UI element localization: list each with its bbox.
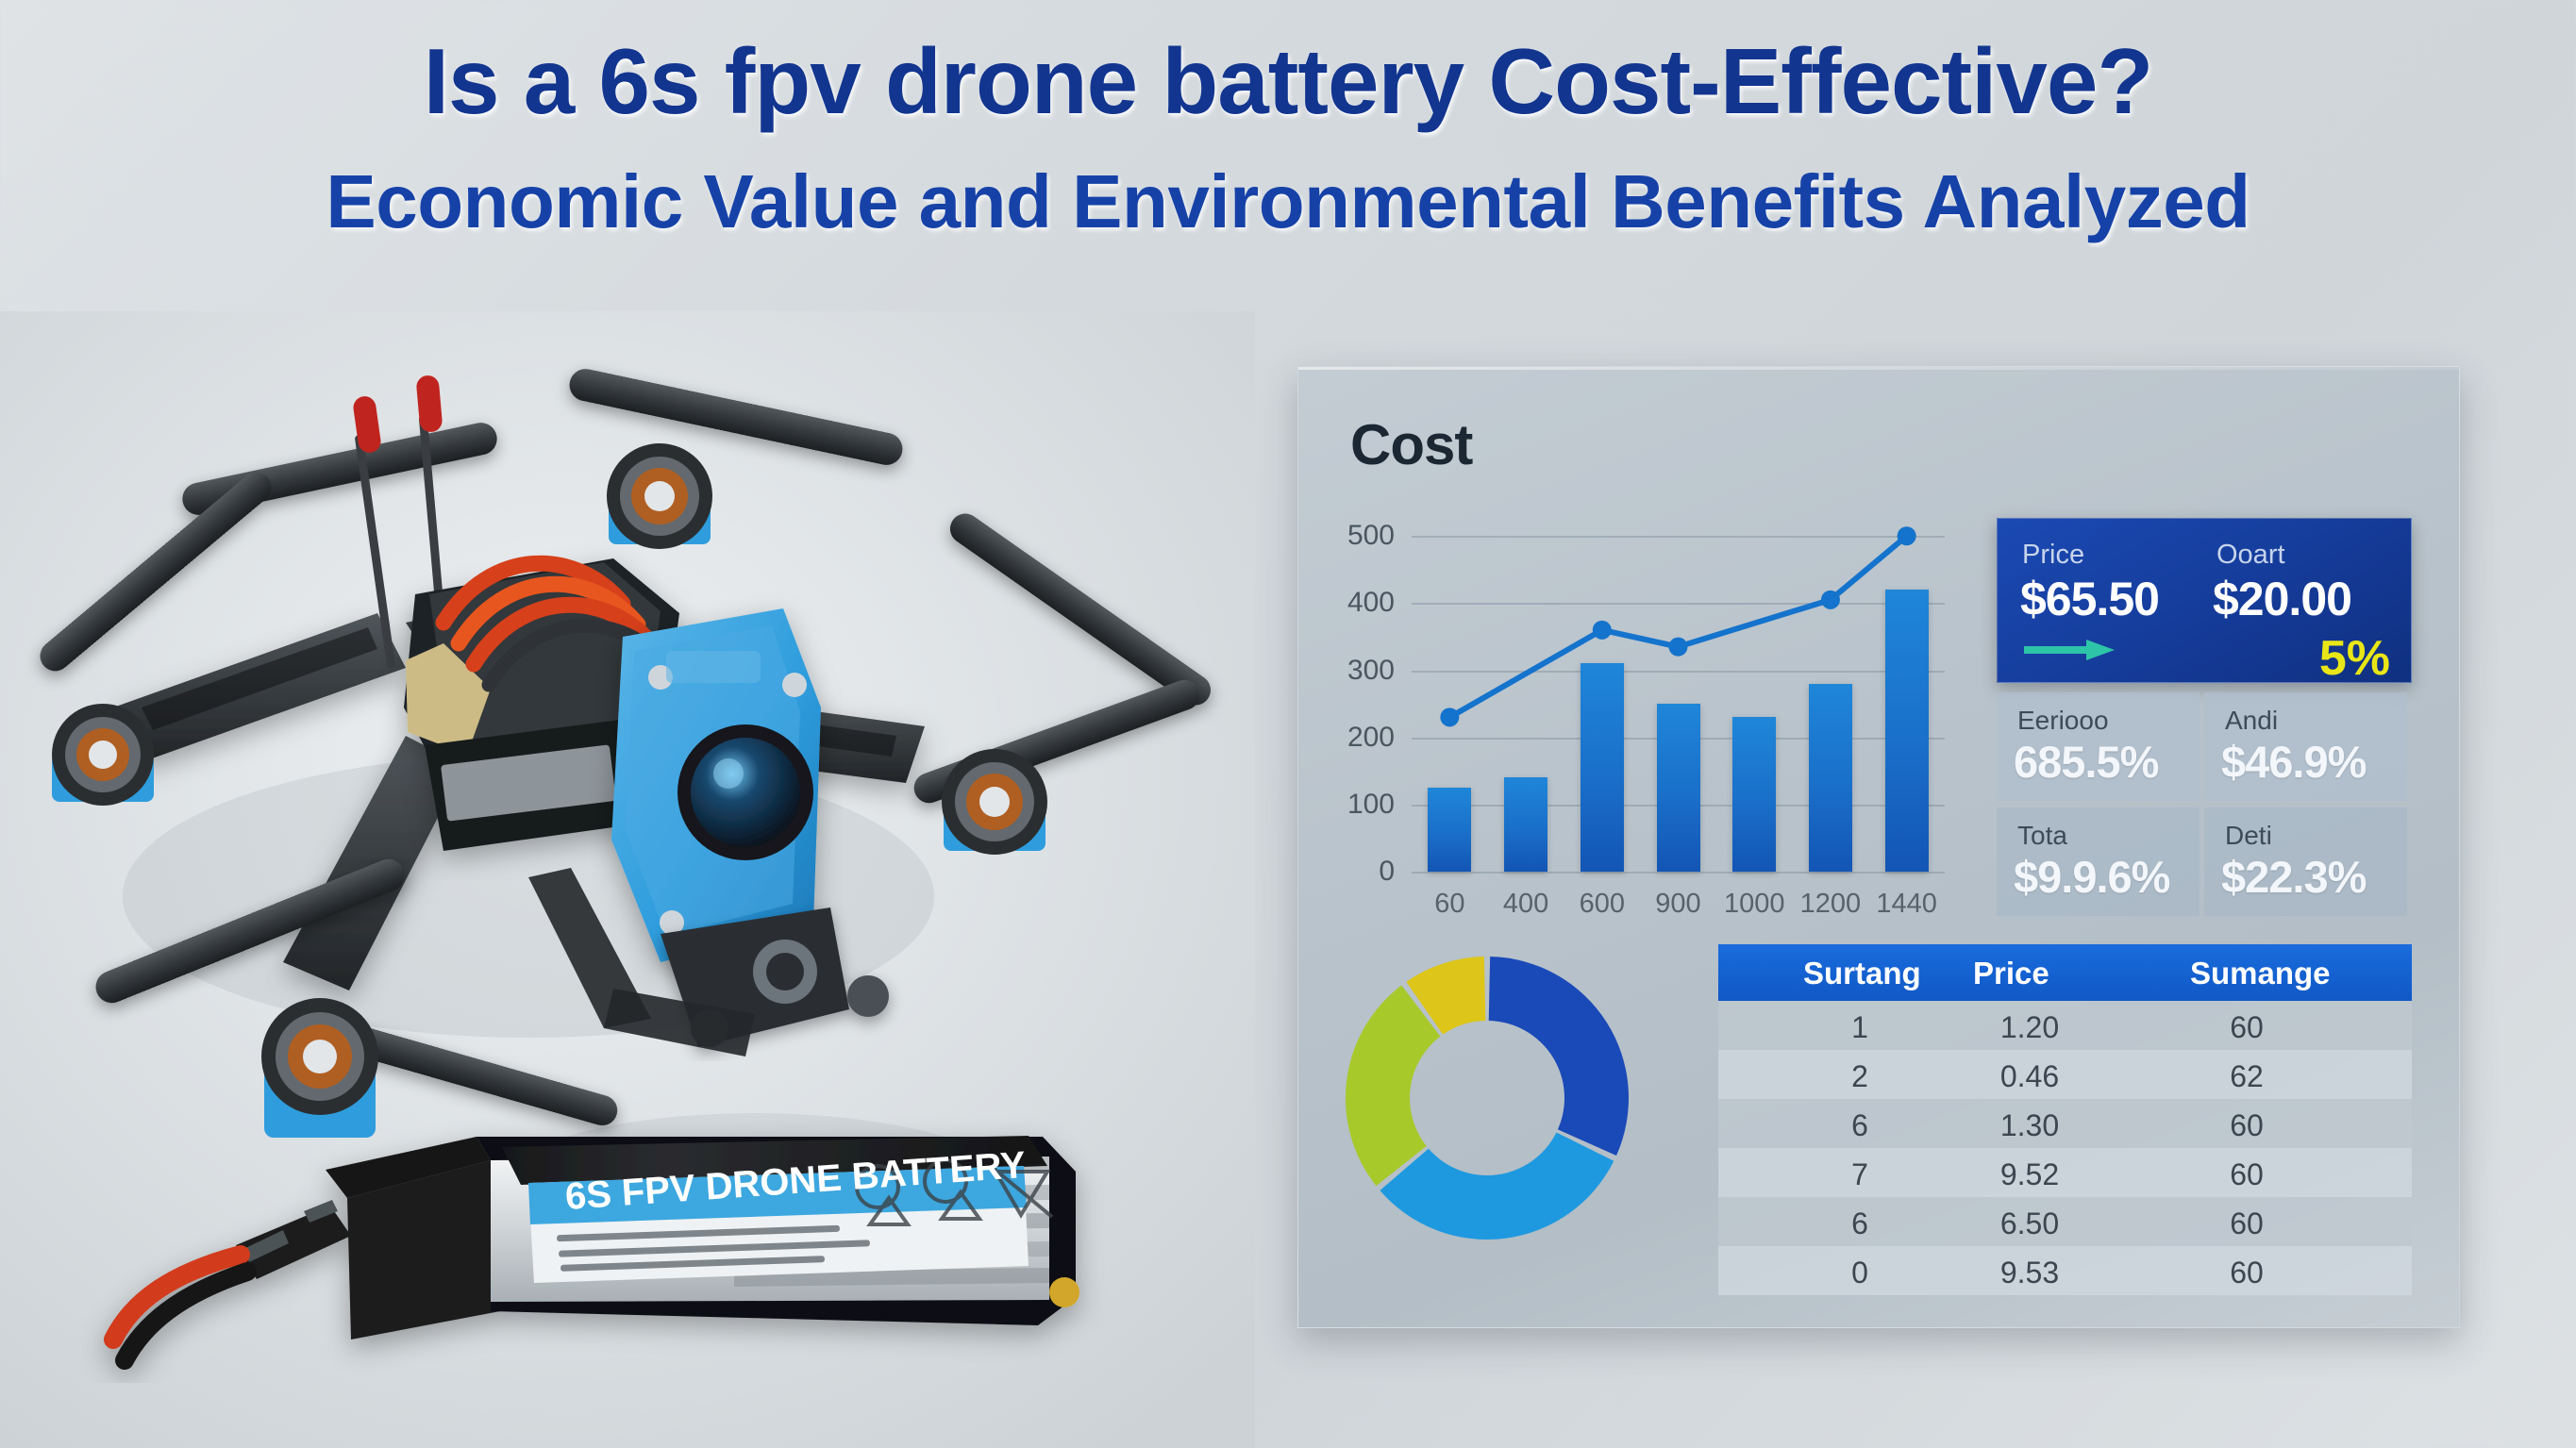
- table-row[interactable]: 61.3060: [1718, 1099, 2412, 1148]
- page-subtitle: Economic Value and Environmental Benefit…: [0, 158, 2576, 245]
- kpi-label-cost: Ooart: [2216, 540, 2285, 571]
- table-column-header[interactable]: Sumange: [2190, 956, 2331, 991]
- line-data-point: [1669, 638, 1688, 657]
- table-column-header[interactable]: Surtang: [1803, 956, 1921, 991]
- table-cell: 60: [2230, 1157, 2264, 1192]
- kpi-secondary-label: Tota: [2017, 821, 2067, 851]
- table-cell: 60: [2230, 1010, 2264, 1045]
- table-row[interactable]: 66.5060: [1718, 1197, 2412, 1246]
- table-cell: 1.30: [2000, 1108, 2059, 1143]
- motor-rear-right: [942, 749, 1047, 855]
- kpi-value-price: $65.50: [2020, 572, 2159, 626]
- kpi-secondary-cell[interactable]: Deti$22.3%: [2204, 807, 2407, 916]
- camera-housing: [611, 608, 821, 962]
- motor-front-left: [52, 704, 154, 806]
- x-tick-label: 1200: [1800, 889, 1862, 920]
- line-data-point: [1898, 526, 1916, 545]
- table-row[interactable]: 09.5360: [1718, 1246, 2412, 1295]
- table-row[interactable]: 79.5260: [1718, 1148, 2412, 1197]
- table-cell: 1: [1851, 1010, 1868, 1045]
- x-tick-label: 600: [1580, 889, 1625, 920]
- table-row[interactable]: 11.2060: [1718, 1001, 2412, 1050]
- table-cell: 6.50: [2000, 1207, 2059, 1241]
- arrow-right-icon: [2024, 640, 2115, 660]
- kpi-percent-change: 5%: [2319, 630, 2390, 687]
- table-cell: 0: [1851, 1256, 1868, 1290]
- x-tick-label: 1440: [1876, 889, 1937, 920]
- y-tick-label: 500: [1347, 520, 1395, 552]
- kpi-label-price: Price: [2022, 540, 2084, 571]
- data-table: SurtangPriceSumange 11.206020.466261.306…: [1718, 944, 2412, 1295]
- analytics-dashboard-panel: Cost 0100200300400500 604006009001000120…: [1297, 366, 2460, 1328]
- y-tick-label: 300: [1347, 655, 1395, 687]
- line-data-point: [1593, 621, 1612, 640]
- kpi-secondary-cell[interactable]: Eeriooo685.5%: [1997, 692, 2200, 801]
- table-cell: 60: [2230, 1207, 2264, 1241]
- motor-rear-left: [261, 998, 378, 1138]
- table-cell: 60: [2230, 1256, 2264, 1290]
- y-tick-label: 0: [1379, 856, 1395, 888]
- drone-illustration: 6S FPV DRONE BATTERY: [0, 311, 1255, 1448]
- table-cell: 60: [2230, 1108, 2264, 1143]
- table-cell: 9.53: [2000, 1256, 2059, 1290]
- kpi-primary-card[interactable]: Price $65.50 Ooart $20.00 5%: [1997, 518, 2412, 683]
- page-title: Is a 6s fpv drone battery Cost-Effective…: [0, 28, 2576, 135]
- kpi-secondary-label: Andi: [2225, 706, 2278, 736]
- kpi-secondary-value: 685.5%: [2014, 736, 2158, 788]
- cost-bar-line-chart: 0100200300400500 60400600900100012001440: [1412, 523, 1945, 872]
- table-cell: 2: [1851, 1059, 1868, 1094]
- gridline: [1412, 872, 1945, 874]
- table-cell: 62: [2230, 1059, 2264, 1094]
- drone-product-photo: 6S FPV DRONE BATTERY: [0, 311, 1255, 1448]
- y-tick-label: 400: [1347, 587, 1395, 619]
- kpi-secondary-cell[interactable]: Andi$46.9%: [2204, 692, 2407, 801]
- x-tick-label: 400: [1503, 889, 1548, 920]
- line-series: [1412, 523, 1945, 872]
- y-tick-label: 200: [1347, 722, 1395, 754]
- x-tick-label: 900: [1655, 889, 1700, 920]
- table-cell: 6: [1851, 1108, 1868, 1143]
- table-cell: 0.46: [2000, 1059, 2059, 1094]
- kpi-secondary-label: Deti: [2225, 821, 2272, 851]
- kpi-secondary-cell[interactable]: Tota$9.9.6%: [1997, 807, 2200, 916]
- line-data-point: [1821, 591, 1840, 609]
- table-column-header[interactable]: Price: [1973, 956, 2049, 991]
- table-cell: 1.20: [2000, 1010, 2059, 1045]
- kpi-secondary-value: $22.3%: [2221, 851, 2366, 903]
- donut-chart: [1341, 952, 1633, 1244]
- table-cell: 9.52: [2000, 1157, 2059, 1192]
- chart-title: Cost: [1350, 412, 1472, 477]
- kpi-secondary-label: Eeriooo: [2017, 706, 2109, 736]
- page-header: Is a 6s fpv drone battery Cost-Effective…: [0, 0, 2576, 292]
- table-header-row: SurtangPriceSumange: [1718, 944, 2412, 1001]
- motor-front-right: [607, 443, 712, 549]
- donut-segment[interactable]: [1489, 957, 1629, 1156]
- kpi-summary-card: Price $65.50 Ooart $20.00 5% Eeriooo685.…: [1997, 518, 2412, 909]
- kpi-value-cost: $20.00: [2213, 572, 2351, 626]
- donut-svg: [1341, 952, 1633, 1244]
- x-tick-label: 1000: [1724, 889, 1785, 920]
- line-data-point: [1440, 707, 1459, 726]
- kpi-secondary-value: $46.9%: [2221, 736, 2366, 788]
- table-cell: 6: [1851, 1207, 1868, 1241]
- x-tick-label: 60: [1434, 889, 1464, 920]
- y-tick-label: 100: [1347, 789, 1395, 821]
- table-row[interactable]: 20.4662: [1718, 1050, 2412, 1099]
- table-cell: 7: [1851, 1157, 1868, 1192]
- kpi-secondary-value: $9.9.6%: [2014, 851, 2169, 903]
